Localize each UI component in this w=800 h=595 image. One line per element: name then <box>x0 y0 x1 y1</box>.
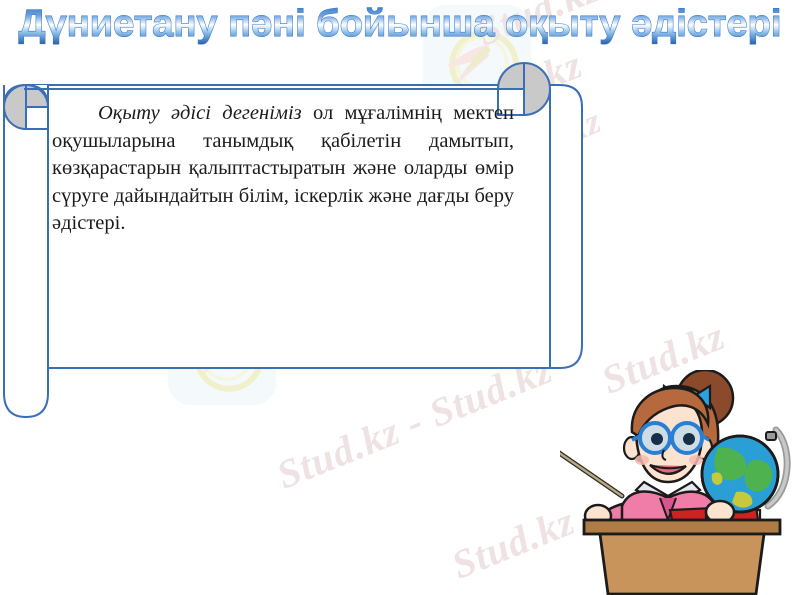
cheek <box>635 455 649 465</box>
pointer-stick <box>560 448 622 496</box>
cheek <box>689 455 703 465</box>
presentation-slide: Stud.kz Stud.kz - Stud.kz Stud.kz Stud.k… <box>0 0 800 595</box>
teacher-illustration <box>560 370 800 595</box>
slide-title: Дүниетану пәні бойынша оқыту әдістері <box>0 0 800 50</box>
desk <box>584 520 780 594</box>
teacher-at-desk-clipart <box>560 370 800 595</box>
svg-text:Дүниетану пәні бойынша оқыту ә: Дүниетану пәні бойынша оқыту әдістері <box>19 3 782 45</box>
scroll-body-text: Оқыту әдісі дегеніміз ол мұғалімнің мект… <box>52 100 514 238</box>
title-wordart: Дүниетану пәні бойынша оқыту әдістері <box>0 0 800 50</box>
scroll-text-lead: Оқыту әдісі дегеніміз <box>98 102 302 124</box>
